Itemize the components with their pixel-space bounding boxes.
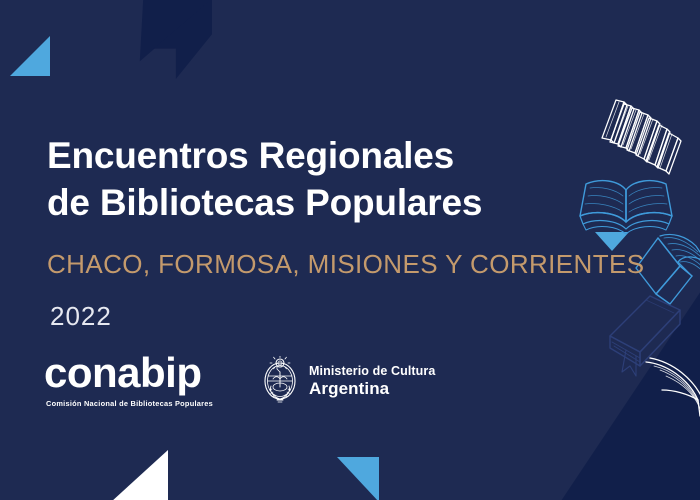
poster-text-block: Encuentros Regionales de Bibliotecas Pop… — [47, 132, 647, 332]
blue-triangle-top-left — [10, 36, 50, 76]
conabip-tagline: Comisión Nacional de Bibliotecas Popular… — [46, 399, 212, 408]
ministerio-line-2: Argentina — [309, 380, 435, 399]
ministerio-text: Ministerio de Cultura Argentina — [309, 365, 435, 398]
conabip-logo: conabip Comisión Nacional de Bibliotecas… — [44, 352, 212, 408]
open-book-edge-illustration — [640, 338, 700, 438]
white-triangle-bottom-left — [111, 450, 168, 500]
ministerio-de-cultura-logo: Ministerio de Cultura Argentina — [260, 356, 435, 408]
poster-canvas: Encuentros Regionales de Bibliotecas Pop… — [0, 0, 700, 500]
logo-row: conabip Comisión Nacional de Bibliotecas… — [44, 352, 435, 408]
blue-triangle-bottom-center — [337, 457, 379, 500]
ministerio-line-1: Ministerio de Cultura — [309, 365, 435, 379]
poster-year: 2022 — [50, 301, 647, 332]
argentina-coat-of-arms-icon — [260, 356, 300, 408]
poster-subtitle: CHACO, FORMOSA, MISIONES Y CORRIENTES — [47, 249, 647, 280]
page-title: Encuentros Regionales de Bibliotecas Pop… — [47, 132, 647, 227]
conabip-wordmark: conabip — [44, 352, 212, 394]
